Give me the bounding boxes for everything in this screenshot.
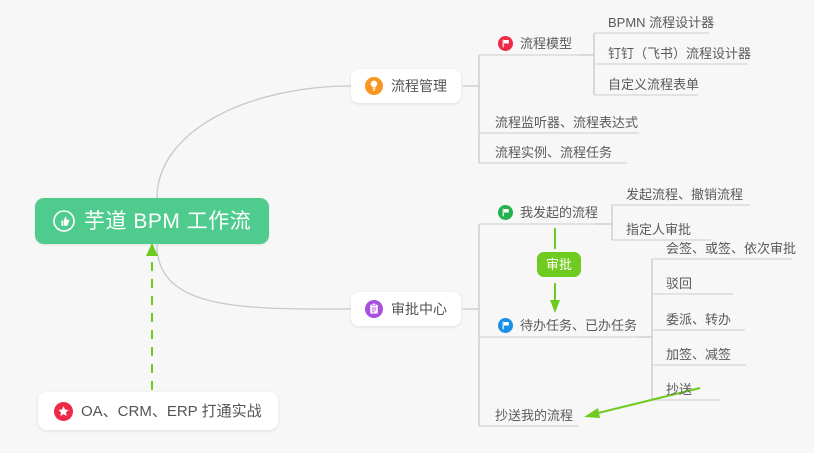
flag-icon [498,36,513,51]
lightbulb-icon [365,77,383,95]
flag-icon [498,318,513,333]
flag-icon [498,205,513,220]
node-process-model-label: 流程模型 [520,37,572,50]
node-custom-form[interactable]: 自定义流程表单 [602,78,705,96]
bottom-highlight-label: OA、CRM、ERP 打通实战 [81,404,262,419]
arrow-cc-to-ccmine-head [584,408,600,418]
arrow-approval-to-todo-head [550,300,560,313]
bottom-highlight-card[interactable]: OA、CRM、ERP 打通实战 [38,392,278,430]
node-process-instance[interactable]: 流程实例、流程任务 [489,146,618,164]
node-process-model[interactable]: 流程模型 [492,36,578,56]
node-todo-done-tasks[interactable]: 待办任务、已办任务 [492,318,643,338]
branch-label-approval-center: 审批中心 [391,302,447,316]
node-my-initiated-label: 我发起的流程 [520,206,598,219]
root-node[interactable]: 芋道 BPM 工作流 [35,198,269,244]
node-bpmn-designer[interactable]: BPMN 流程设计器 [602,16,720,34]
node-start-cancel-process[interactable]: 发起流程、撤销流程 [620,188,749,206]
star-icon [54,402,73,421]
node-countersign[interactable]: 会签、或签、依次审批 [660,242,802,260]
arrow-bottom-to-root-head [146,243,158,256]
wire-root-to-process-management [157,86,351,198]
node-add-remove-sign[interactable]: 加签、减签 [660,348,737,366]
node-cc-my-processes[interactable]: 抄送我的流程 [489,409,579,427]
node-my-initiated-processes[interactable]: 我发起的流程 [492,205,604,225]
node-dingtalk-designer[interactable]: 钉钉（飞书）流程设计器 [602,47,757,65]
mindmap-canvas: 芋道 BPM 工作流 流程管理 流程模型 流程监听器、流程表达式 流程实例、流程… [0,0,814,453]
branch-label-process-management: 流程管理 [391,79,447,93]
node-todo-done-label: 待办任务、已办任务 [520,319,637,332]
branch-node-process-management[interactable]: 流程管理 [351,69,461,103]
node-process-listener[interactable]: 流程监听器、流程表达式 [489,116,644,134]
thumbs-up-icon [53,210,75,232]
root-label: 芋道 BPM 工作流 [84,211,251,232]
approval-badge: 审批 [537,252,581,277]
node-reject[interactable]: 驳回 [660,277,698,295]
branch-node-approval-center[interactable]: 审批中心 [351,292,461,326]
node-delegate-transfer[interactable]: 委派、转办 [660,313,737,331]
node-cc[interactable]: 抄送 [660,383,698,401]
wire-root-to-approval-center [157,245,351,309]
node-designated-approval[interactable]: 指定人审批 [620,223,697,241]
clipboard-icon [365,300,383,318]
